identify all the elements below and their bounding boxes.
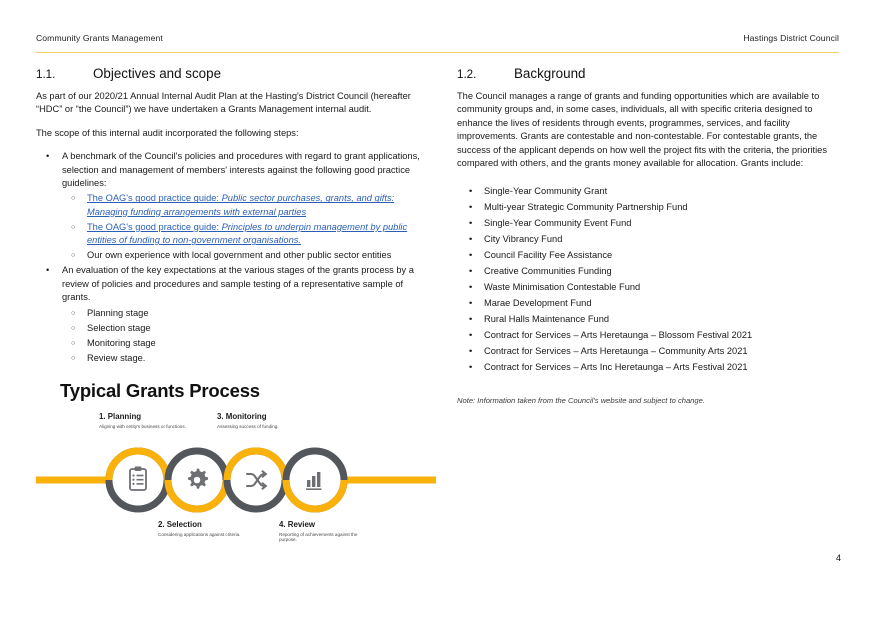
list-item: Selection stage — [62, 322, 421, 335]
list-item: Multi-year Strategic Community Partnersh… — [457, 199, 839, 215]
list-item: Review stage. — [62, 352, 421, 365]
scope-bullet-2-text: An evaluation of the key expectations at… — [62, 265, 414, 302]
section-title: Background — [514, 66, 585, 81]
section-title: Objectives and scope — [93, 66, 221, 81]
grant-name: Contract for Services – Arts Inc Heretau… — [484, 362, 748, 372]
page-header: Community Grants Management Hastings Dis… — [36, 33, 839, 43]
grants-list: Single-Year Community Grant Multi-year S… — [457, 183, 839, 375]
stage-title: 1. Planning — [99, 412, 194, 422]
stage-2-label: 2. Selection Considering applications ag… — [158, 520, 258, 537]
list-item: Waste Minimisation Contestable Fund — [457, 279, 839, 295]
source-note: Note: Information taken from the Council… — [457, 395, 839, 406]
stage-label: Planning stage — [87, 308, 149, 318]
gear-icon — [188, 469, 208, 489]
grant-name: Council Facility Fee Assistance — [484, 250, 612, 260]
list-item: Monitoring stage — [62, 337, 421, 350]
scope-bullet-1-text: A benchmark of the Council's policies an… — [62, 151, 420, 188]
list-item: Contract for Services – Arts Heretaunga … — [457, 327, 839, 343]
list-item: Creative Communities Funding — [457, 263, 839, 279]
header-divider — [36, 52, 839, 53]
stage-label: Monitoring stage — [87, 338, 156, 348]
grant-name: Multi-year Strategic Community Partnersh… — [484, 202, 688, 212]
oag-guide-link-1[interactable]: The OAG's good practice guide: Public se… — [87, 193, 394, 216]
grant-name: Contract for Services – Arts Heretaunga … — [484, 346, 748, 356]
stage-1-label: 1. Planning Aligning with entity's busin… — [99, 412, 194, 429]
background-paragraph: The Council manages a range of grants an… — [457, 90, 839, 170]
stage-title: 4. Review — [279, 520, 374, 530]
section-heading-objectives: 1.1. Objectives and scope — [36, 66, 421, 81]
grant-name: Waste Minimisation Contestable Fund — [484, 282, 640, 292]
list-item: Single-Year Community Event Fund — [457, 215, 839, 231]
list-item: The OAG's good practice guide: Principle… — [62, 221, 421, 247]
stage-subtitle: Assessing success of funding. — [217, 424, 312, 430]
stage-label: Review stage. — [87, 353, 145, 363]
section-number: 1.2. — [457, 68, 514, 81]
link-lead-text: The OAG's good practice guide: — [87, 193, 219, 203]
own-experience-text: Our own experience with local government… — [87, 250, 391, 260]
list-item: A benchmark of the Council's policies an… — [36, 150, 421, 262]
left-column: 1.1. Objectives and scope As part of our… — [36, 66, 421, 367]
grant-name: Rural Halls Maintenance Fund — [484, 314, 609, 324]
page-number: 4 — [836, 553, 841, 563]
section-heading-background: 1.2. Background — [457, 66, 839, 81]
right-column: 1.2. Background The Council manages a ra… — [457, 66, 839, 406]
scope-bullet-list: A benchmark of the Council's policies an… — [36, 150, 421, 365]
objectives-paragraph-2: The scope of this internal audit incorpo… — [36, 127, 421, 140]
list-item: Our own experience with local government… — [62, 249, 421, 262]
grant-name: Contract for Services – Arts Heretaunga … — [484, 330, 752, 340]
objectives-paragraph-1: As part of our 2020/21 Annual Internal A… — [36, 90, 421, 117]
header-left-title: Community Grants Management — [36, 33, 163, 43]
stage-1-node — [109, 451, 167, 509]
stage-4-node — [286, 451, 344, 509]
list-item: Single-Year Community Grant — [457, 183, 839, 199]
stage-title: 3. Monitoring — [217, 412, 312, 422]
grants-process-diagram: Typical Grants Process — [36, 380, 436, 560]
grant-name: Marae Development Fund — [484, 298, 592, 308]
section-number: 1.1. — [36, 68, 93, 81]
list-item: Council Facility Fee Assistance — [457, 247, 839, 263]
document-page: Community Grants Management Hastings Dis… — [0, 0, 875, 619]
stage-4-label: 4. Review Reporting of achievements agai… — [279, 520, 374, 543]
stage-subtitle: Considering applications against criteri… — [158, 532, 258, 538]
list-item: Contract for Services – Arts Heretaunga … — [457, 343, 839, 359]
header-right-title: Hastings District Council — [743, 33, 839, 43]
stage-subtitle: Reporting of achievements against the pu… — [279, 532, 374, 543]
list-item: The OAG's good practice guide: Public se… — [62, 192, 421, 218]
scope-sublist-stages: Planning stage Selection stage Monitorin… — [62, 307, 421, 366]
list-item: City Vibrancy Fund — [457, 231, 839, 247]
list-item: Marae Development Fund — [457, 295, 839, 311]
list-item: An evaluation of the key expectations at… — [36, 264, 421, 365]
stage-title: 2. Selection — [158, 520, 258, 530]
link-lead-text: The OAG's good practice guide: — [87, 222, 219, 232]
grant-name: Creative Communities Funding — [484, 266, 612, 276]
stage-2-node — [168, 451, 226, 509]
scope-sublist-guidelines: The OAG's good practice guide: Public se… — [62, 192, 421, 262]
stage-3-node — [227, 451, 285, 509]
list-item: Rural Halls Maintenance Fund — [457, 311, 839, 327]
list-item: Planning stage — [62, 307, 421, 320]
oag-guide-link-2[interactable]: The OAG's good practice guide: Principle… — [87, 222, 407, 245]
grant-name: Single-Year Community Event Fund — [484, 218, 631, 228]
grant-name: City Vibrancy Fund — [484, 234, 562, 244]
list-item: Contract for Services – Arts Inc Heretau… — [457, 359, 839, 375]
stage-3-label: 3. Monitoring Assessing success of fundi… — [217, 412, 312, 429]
grant-name: Single-Year Community Grant — [484, 186, 607, 196]
stage-subtitle: Aligning with entity's business or funct… — [99, 424, 194, 430]
stage-label: Selection stage — [87, 323, 151, 333]
